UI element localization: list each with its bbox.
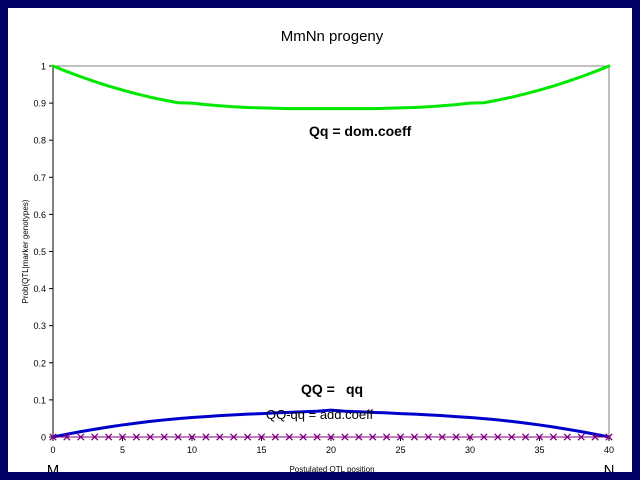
x-tick-label: 40	[604, 445, 614, 455]
y-tick-label: 0.2	[33, 358, 46, 368]
series-line-0	[53, 66, 609, 109]
y-tick-label: 0.6	[33, 210, 46, 220]
chart-plot-svg: MmNn progeny00.10.20.30.40.50.60.70.80.9…	[8, 8, 632, 472]
y-tick-label: 0	[41, 433, 46, 443]
screenshot-root: MmNn progeny00.10.20.30.40.50.60.70.80.9…	[0, 0, 640, 480]
x-tick-label: 5	[120, 445, 125, 455]
x-axis-endpoint-right: N	[604, 462, 615, 472]
y-tick-label: 0.5	[33, 247, 46, 257]
chart-canvas: MmNn progeny00.10.20.30.40.50.60.70.80.9…	[8, 8, 632, 472]
chart-title: MmNn progeny	[281, 28, 384, 45]
annotation-qq-label-part2: qq	[346, 381, 363, 397]
y-tick-label: 0.1	[33, 395, 46, 405]
y-tick-label: 1	[41, 62, 46, 72]
annotation-add-coeff-label: QQ-qq = add.coeff	[266, 407, 373, 422]
y-tick-label: 0.9	[33, 99, 46, 109]
x-tick-label: 10	[187, 445, 197, 455]
annotation-dom-coeff-label: Qq = dom.coeff	[309, 123, 412, 139]
y-tick-label: 0.8	[33, 136, 46, 146]
y-tick-label: 0.7	[33, 173, 46, 183]
x-tick-label: 0	[50, 445, 55, 455]
x-tick-label: 25	[395, 445, 405, 455]
x-axis-label: Postulated QTL position	[289, 465, 374, 472]
x-tick-label: 30	[465, 445, 475, 455]
x-tick-label: 35	[534, 445, 544, 455]
y-tick-label: 0.4	[33, 284, 46, 294]
annotation-qq-label-part1: QQ =	[301, 381, 335, 397]
y-tick-label: 0.3	[33, 321, 46, 331]
y-axis-label: Prob(QTL|marker genotypes)	[21, 199, 30, 303]
x-tick-label: 15	[256, 445, 266, 455]
x-tick-label: 20	[326, 445, 336, 455]
x-axis-endpoint-left: M	[47, 462, 60, 472]
